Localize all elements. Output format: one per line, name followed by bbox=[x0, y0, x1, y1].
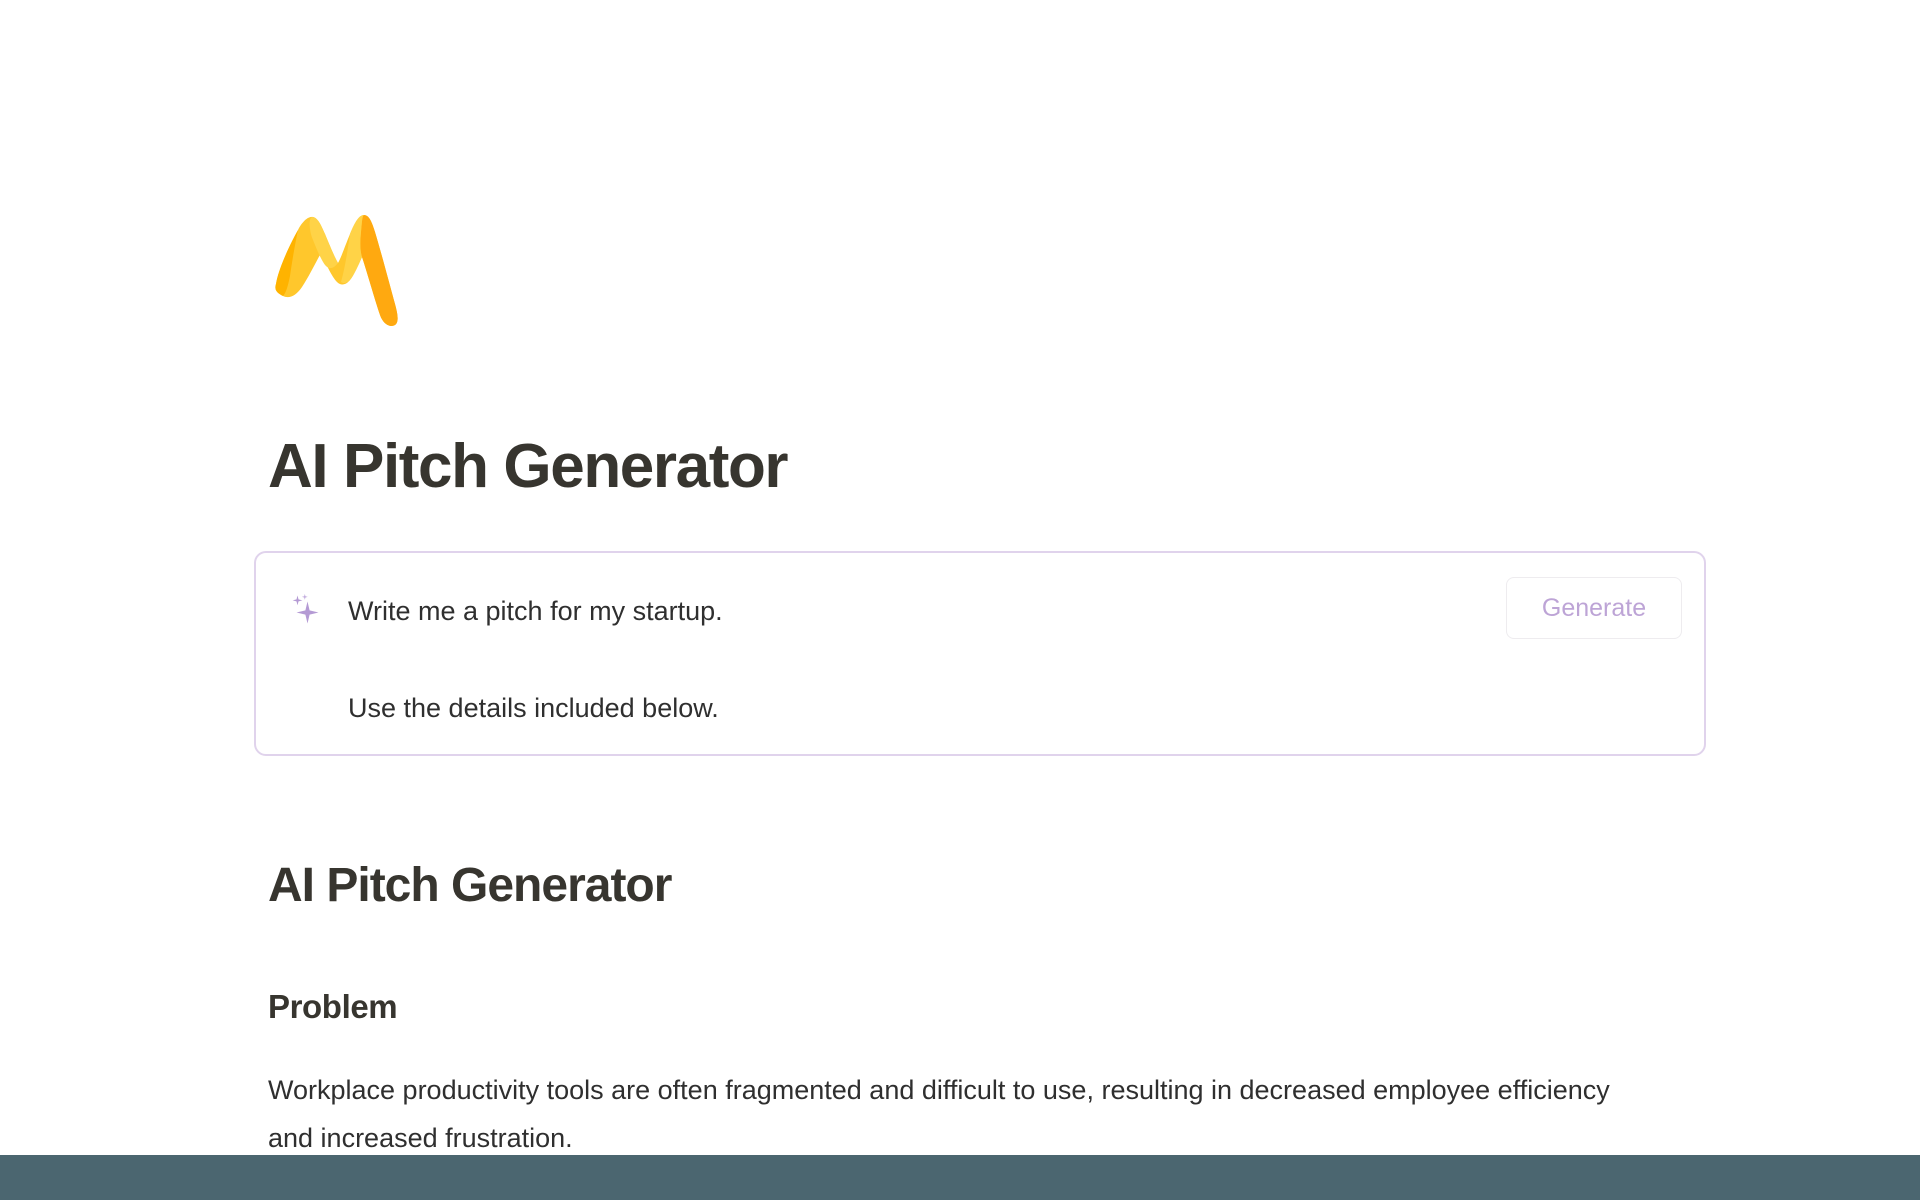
app-page: AI Pitch Generator Write me a pitch for … bbox=[0, 0, 1920, 1200]
document-section-heading: Problem bbox=[268, 986, 397, 1028]
prompt-card[interactable]: Write me a pitch for my startup. Use the… bbox=[254, 551, 1706, 756]
bottom-bar bbox=[0, 1155, 1920, 1200]
document-section-body: Workplace productivity tools are often f… bbox=[268, 1066, 1648, 1162]
sparkle-icon bbox=[288, 593, 322, 627]
prompt-text-line-1: Write me a pitch for my startup. bbox=[348, 593, 723, 629]
mountain-m-logo-icon bbox=[268, 200, 418, 330]
document-title: AI Pitch Generator bbox=[268, 857, 671, 915]
app-logo bbox=[268, 200, 418, 330]
page-title: AI Pitch Generator bbox=[268, 430, 787, 504]
prompt-card-body: Write me a pitch for my startup. Use the… bbox=[256, 553, 1704, 754]
generate-button[interactable]: Generate bbox=[1506, 577, 1682, 639]
prompt-text-line-2: Use the details included below. bbox=[348, 690, 719, 726]
